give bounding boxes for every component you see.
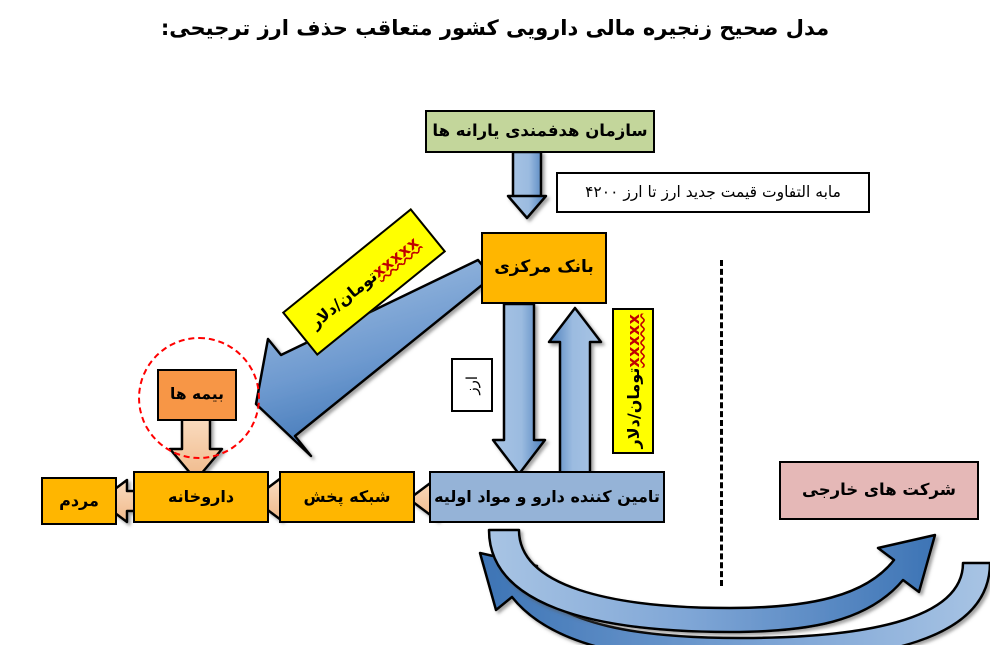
node-supplier[interactable]: تامین کننده دارو و مواد اولیه (429, 471, 665, 523)
node-people[interactable]: مردم (41, 477, 117, 525)
node-distribution-network[interactable]: شبکه پخش (279, 471, 415, 523)
node-distribution-network-label: شبکه پخش (304, 487, 391, 507)
rate-label-diagonal: xxxxxتومان/دلار (282, 208, 446, 356)
node-pharmacy-label: داروخانه (168, 487, 234, 507)
arrow-foreign-to-supplier-curved (480, 553, 990, 645)
node-central-bank-label: بانک مرکزی (494, 257, 594, 278)
node-price-difference-note-label: مابه التفاوت قیمت جدید ارز تا ارز ۴۲۰۰ (585, 183, 841, 202)
arrow-supplier-to-foreign-curved (489, 530, 935, 632)
node-foreign-companies[interactable]: شرکت های خارجی (779, 461, 979, 520)
node-foreign-companies-label: شرکت های خارجی (802, 480, 956, 501)
rate-label-diagonal-amount: xxxxx (368, 232, 422, 281)
node-supplier-label: تامین کننده دارو و مواد اولیه (434, 487, 660, 507)
domestic-foreign-divider (720, 260, 723, 586)
rate-label-vertical: xxxxxتومان/دلار (612, 308, 654, 454)
rate-label-vertical-amount: xxxxx (624, 314, 643, 368)
node-subsidy-organization[interactable]: سازمان هدفمندی یارانه ها (425, 110, 655, 153)
insurances-highlight-circle (138, 337, 260, 459)
node-currency-marker: ارز (451, 358, 493, 412)
page-title: مدل صحیح زنجیره مالی دارویی کشور متعاقب … (0, 16, 990, 40)
diagram-canvas: مدل صحیح زنجیره مالی دارویی کشور متعاقب … (0, 0, 990, 645)
node-price-difference-note: مابه التفاوت قیمت جدید ارز تا ارز ۴۲۰۰ (556, 172, 870, 213)
node-people-label: مردم (59, 491, 99, 511)
node-subsidy-organization-label: سازمان هدفمندی یارانه ها (432, 121, 647, 142)
connector-layer (0, 0, 990, 645)
node-currency-marker-label: ارز (463, 376, 482, 395)
arrow-bank-to-supplier (493, 304, 545, 474)
arrow-subsidy-to-bank (508, 152, 546, 218)
rate-label-vertical-unit: تومان/دلار (624, 368, 643, 449)
rate-label-diagonal-unit: تومان/دلار (306, 266, 381, 332)
arrow-supplier-to-bank (549, 308, 601, 474)
node-central-bank[interactable]: بانک مرکزی (481, 232, 607, 304)
node-pharmacy[interactable]: داروخانه (133, 471, 269, 523)
